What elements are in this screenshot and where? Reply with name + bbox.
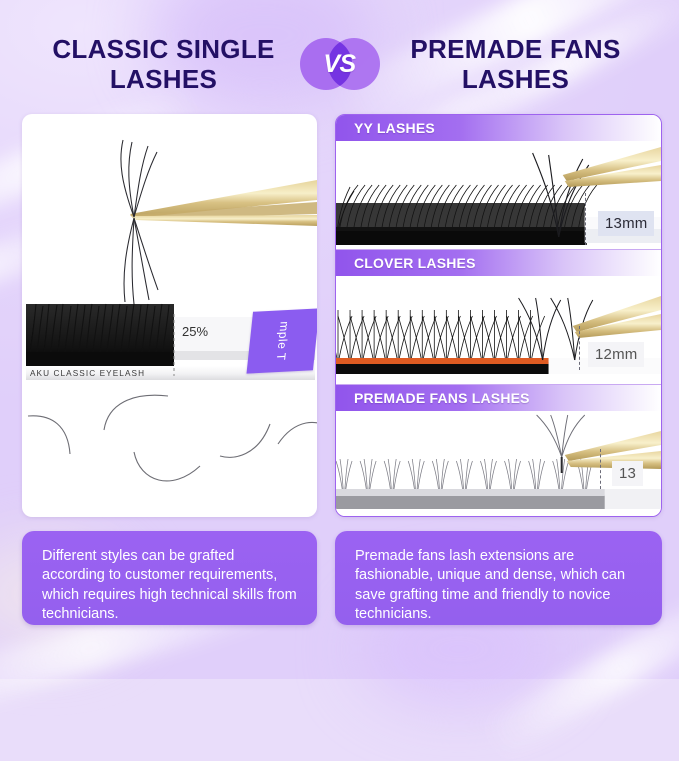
section-body-yy: 13mm bbox=[336, 141, 661, 249]
right-title: PREMADE FANS LASHES bbox=[382, 34, 650, 94]
section-header-yy: YY LASHES bbox=[336, 115, 661, 141]
right-description-text: Premade fans lash extensions are fashion… bbox=[355, 547, 642, 624]
single-lash-curves-icon bbox=[28, 395, 317, 481]
measure-tick bbox=[585, 193, 586, 245]
clover-lashes-tray-icon bbox=[336, 276, 661, 384]
left-title: CLASSIC SINGLE LASHES bbox=[30, 34, 298, 94]
vs-label: VS bbox=[298, 32, 382, 96]
sample-tape-text: mple T bbox=[274, 321, 292, 361]
section-header-clover: CLOVER LASHES bbox=[336, 250, 661, 276]
left-description-text: Different styles can be grafted accordin… bbox=[42, 547, 297, 624]
tweezers-icon bbox=[563, 147, 661, 187]
premade-fans-panel: YY LASHES bbox=[335, 114, 662, 517]
percent-label: 25% bbox=[182, 324, 208, 339]
section-yy-lashes: YY LASHES bbox=[336, 115, 661, 249]
held-lashes-icon bbox=[121, 140, 158, 304]
section-title-premade: PREMADE FANS LASHES bbox=[336, 390, 530, 406]
section-title-yy: YY LASHES bbox=[336, 120, 435, 136]
measure-label-premade: 13 bbox=[612, 461, 643, 486]
section-clover-lashes: CLOVER LASHES bbox=[336, 250, 661, 384]
section-body-clover: 12mm bbox=[336, 276, 661, 384]
measure-label-clover: 12mm bbox=[588, 342, 644, 367]
measure-label-yy: 13mm bbox=[598, 211, 654, 236]
tweezers-icon bbox=[130, 180, 317, 226]
section-header-premade: PREMADE FANS LASHES bbox=[336, 385, 661, 411]
measure-tick bbox=[579, 326, 580, 370]
vs-badge: VS bbox=[298, 32, 382, 96]
tweezers-icon bbox=[573, 296, 661, 338]
section-body-premade: 13 bbox=[336, 411, 661, 516]
sample-tape-label: mple T bbox=[246, 308, 317, 373]
right-description-box: Premade fans lash extensions are fashion… bbox=[335, 531, 662, 625]
section-premade-fans: PREMADE FANS LASHES bbox=[336, 385, 661, 516]
header: CLASSIC SINGLE LASHES VS PREMADE FANS LA… bbox=[0, 24, 679, 104]
classic-lashes-panel: AKU CLASSIC EYELASH 25% mple T bbox=[22, 114, 317, 517]
classic-lash-tray-icon bbox=[26, 304, 174, 368]
left-description-box: Different styles can be grafted accordin… bbox=[22, 531, 317, 625]
section-title-clover: CLOVER LASHES bbox=[336, 255, 476, 271]
tray-brand-text: AKU CLASSIC EYELASH bbox=[30, 369, 145, 378]
measure-tick bbox=[600, 449, 601, 489]
